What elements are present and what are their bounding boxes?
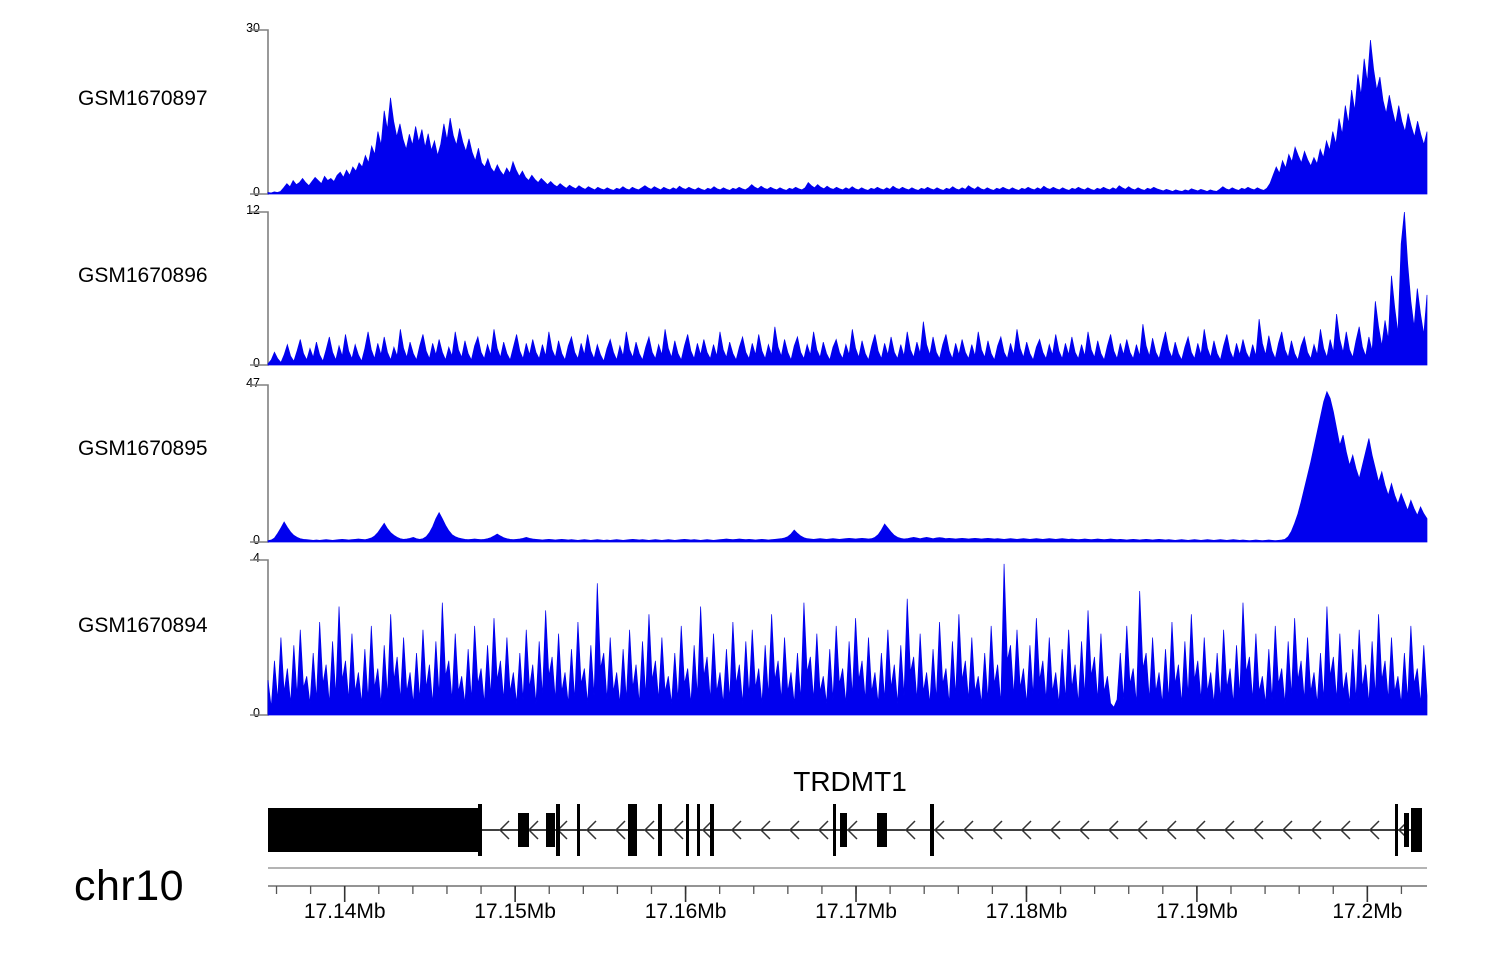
exon-9 bbox=[697, 804, 700, 856]
genome-axis[interactable]: 17.14Mb17.15Mb17.16Mb17.17Mb17.18Mb17.19… bbox=[0, 872, 1500, 972]
exon-1 bbox=[478, 804, 482, 856]
gene-label-text: TRDMT1 bbox=[793, 766, 907, 797]
y-axis-max-label-t4: 4 bbox=[228, 551, 260, 565]
genome-browser-view: GSM1670897300 GSM1670896120 GSM167089547… bbox=[0, 0, 1500, 980]
exon-14 bbox=[930, 804, 934, 856]
exon-4 bbox=[556, 804, 560, 856]
exon-11 bbox=[833, 804, 836, 856]
y-axis-max-label-t1: 30 bbox=[228, 21, 260, 35]
track-label-gsm1670895: GSM1670895 bbox=[78, 437, 208, 461]
gene-model-track[interactable]: TRDMT1 bbox=[0, 760, 1500, 890]
exon-12 bbox=[840, 813, 847, 847]
axis-tick-label: 17.17Mb bbox=[815, 900, 897, 924]
utr-block bbox=[268, 808, 478, 852]
coverage-area-t2 bbox=[268, 212, 1427, 365]
exon-2 bbox=[518, 813, 529, 847]
exon-10 bbox=[710, 804, 714, 856]
coverage-area-t4 bbox=[268, 564, 1427, 715]
axis-tick-label: 17.15Mb bbox=[474, 900, 556, 924]
track-label-gsm1670894: GSM1670894 bbox=[78, 614, 208, 638]
track-label-gsm1670897: GSM1670897 bbox=[78, 87, 208, 111]
y-axis-bracket-t2 bbox=[250, 212, 268, 365]
y-axis-min-label-t3: 0 bbox=[228, 533, 260, 547]
axis-tick-label: 17.16Mb bbox=[645, 900, 727, 924]
coverage-area-t3 bbox=[268, 392, 1427, 542]
gene-label: TRDMT1 bbox=[0, 766, 1500, 798]
exon-3 bbox=[546, 813, 555, 847]
y-axis-bracket-t4 bbox=[250, 560, 268, 715]
exon-6 bbox=[628, 804, 637, 856]
y-axis-bracket-t3 bbox=[250, 385, 268, 542]
exon-16 bbox=[1404, 813, 1409, 847]
exon-13 bbox=[877, 813, 887, 847]
genome-axis-ruler[interactable] bbox=[0, 872, 1500, 912]
y-axis-bracket-t1 bbox=[250, 30, 268, 194]
y-axis-max-label-t2: 12 bbox=[228, 203, 260, 217]
axis-tick-label: 17.2Mb bbox=[1332, 900, 1402, 924]
axis-tick-label: 17.19Mb bbox=[1156, 900, 1238, 924]
track-label-gsm1670896: GSM1670896 bbox=[78, 264, 208, 288]
exon-17 bbox=[1411, 808, 1422, 852]
axis-tick-label: 17.14Mb bbox=[304, 900, 386, 924]
exon-7 bbox=[658, 804, 662, 856]
y-axis-max-label-t3: 47 bbox=[228, 376, 260, 390]
exon-5 bbox=[577, 804, 580, 856]
y-axis-min-label-t2: 0 bbox=[228, 356, 260, 370]
coverage-area-t1 bbox=[268, 40, 1427, 194]
y-axis-min-label-t4: 0 bbox=[228, 706, 260, 720]
exon-8 bbox=[686, 804, 689, 856]
exon-15 bbox=[1395, 804, 1398, 856]
y-axis-min-label-t1: 0 bbox=[228, 185, 260, 199]
axis-tick-label: 17.18Mb bbox=[986, 900, 1068, 924]
